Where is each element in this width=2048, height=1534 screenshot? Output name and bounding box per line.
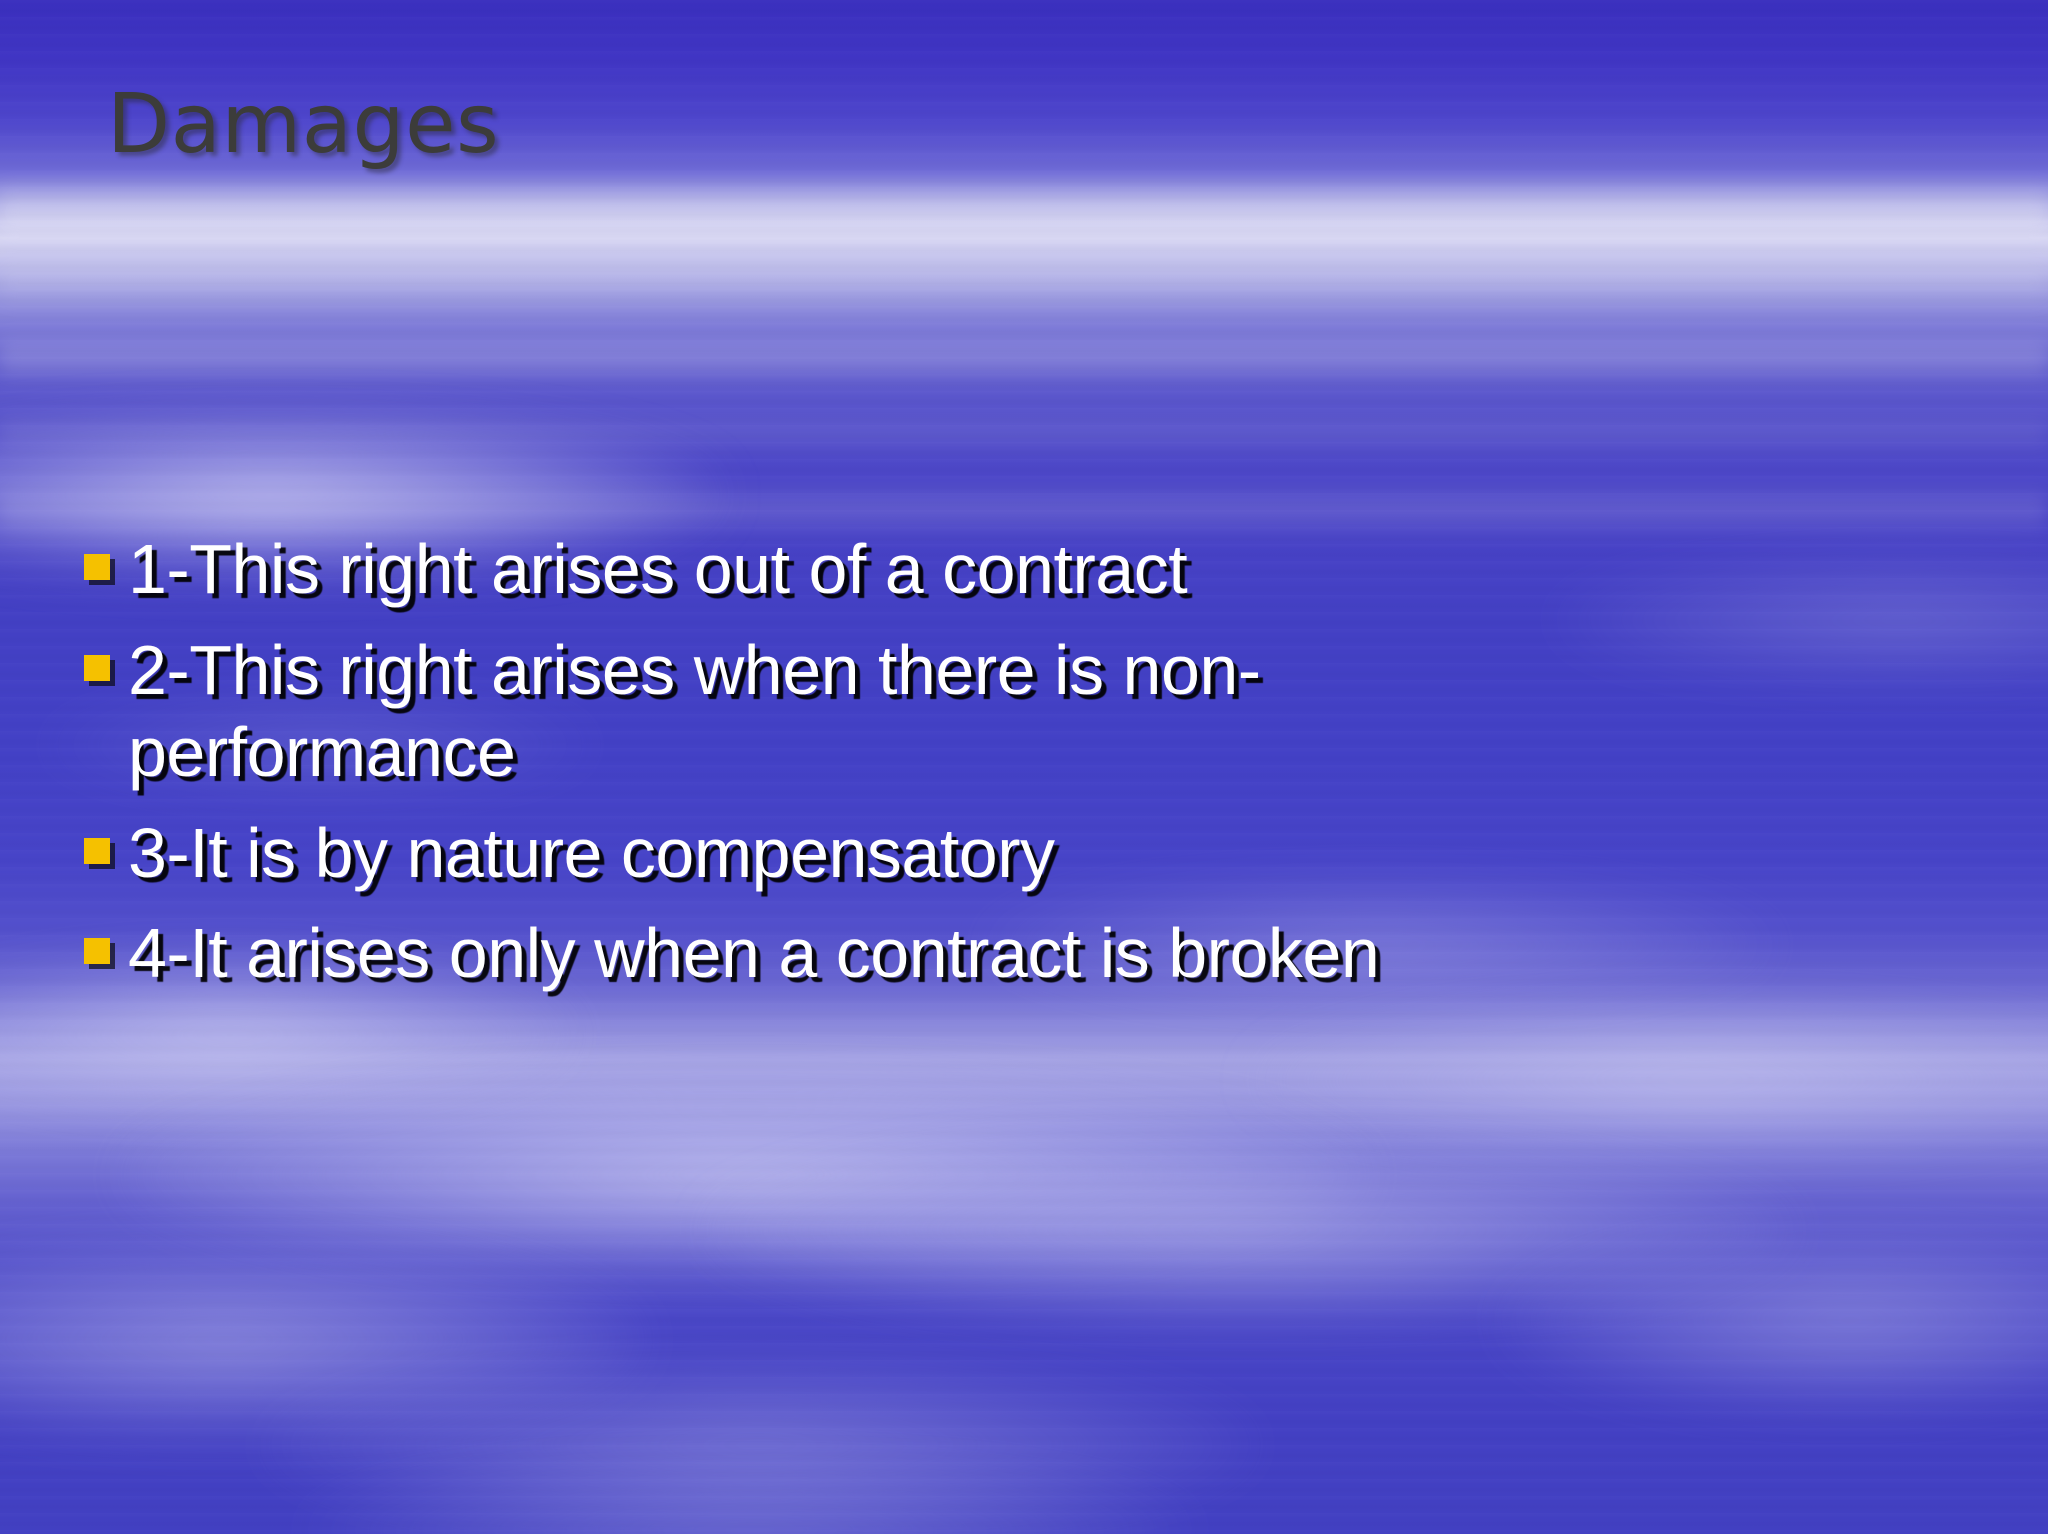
list-item-label: 4-It arises only when a contract is brok…	[128, 912, 1984, 995]
list-item: 3-It is by nature compensatory	[84, 812, 1984, 895]
square-bullet-icon	[84, 938, 110, 964]
list-item: 2-This right arises when there is non- p…	[84, 629, 1984, 794]
list-item-label: 1-This right arises out of a contract	[128, 528, 1984, 611]
list-item-label: 2-This right arises when there is non- p…	[128, 629, 1984, 794]
square-bullet-icon	[84, 655, 110, 681]
list-item: 1-This right arises out of a contract	[84, 528, 1984, 611]
square-bullet-icon	[84, 838, 110, 864]
bullet-list: 1-This right arises out of a contract 2-…	[84, 528, 1984, 1013]
list-item: 4-It arises only when a contract is brok…	[84, 912, 1984, 995]
list-item-label: 3-It is by nature compensatory	[128, 812, 1984, 895]
slide-title: Damages	[107, 84, 499, 166]
slide-content: Damages 1-This right arises out of a con…	[0, 0, 2048, 1534]
square-bullet-icon	[84, 554, 110, 580]
presentation-slide: Damages 1-This right arises out of a con…	[0, 0, 2048, 1534]
